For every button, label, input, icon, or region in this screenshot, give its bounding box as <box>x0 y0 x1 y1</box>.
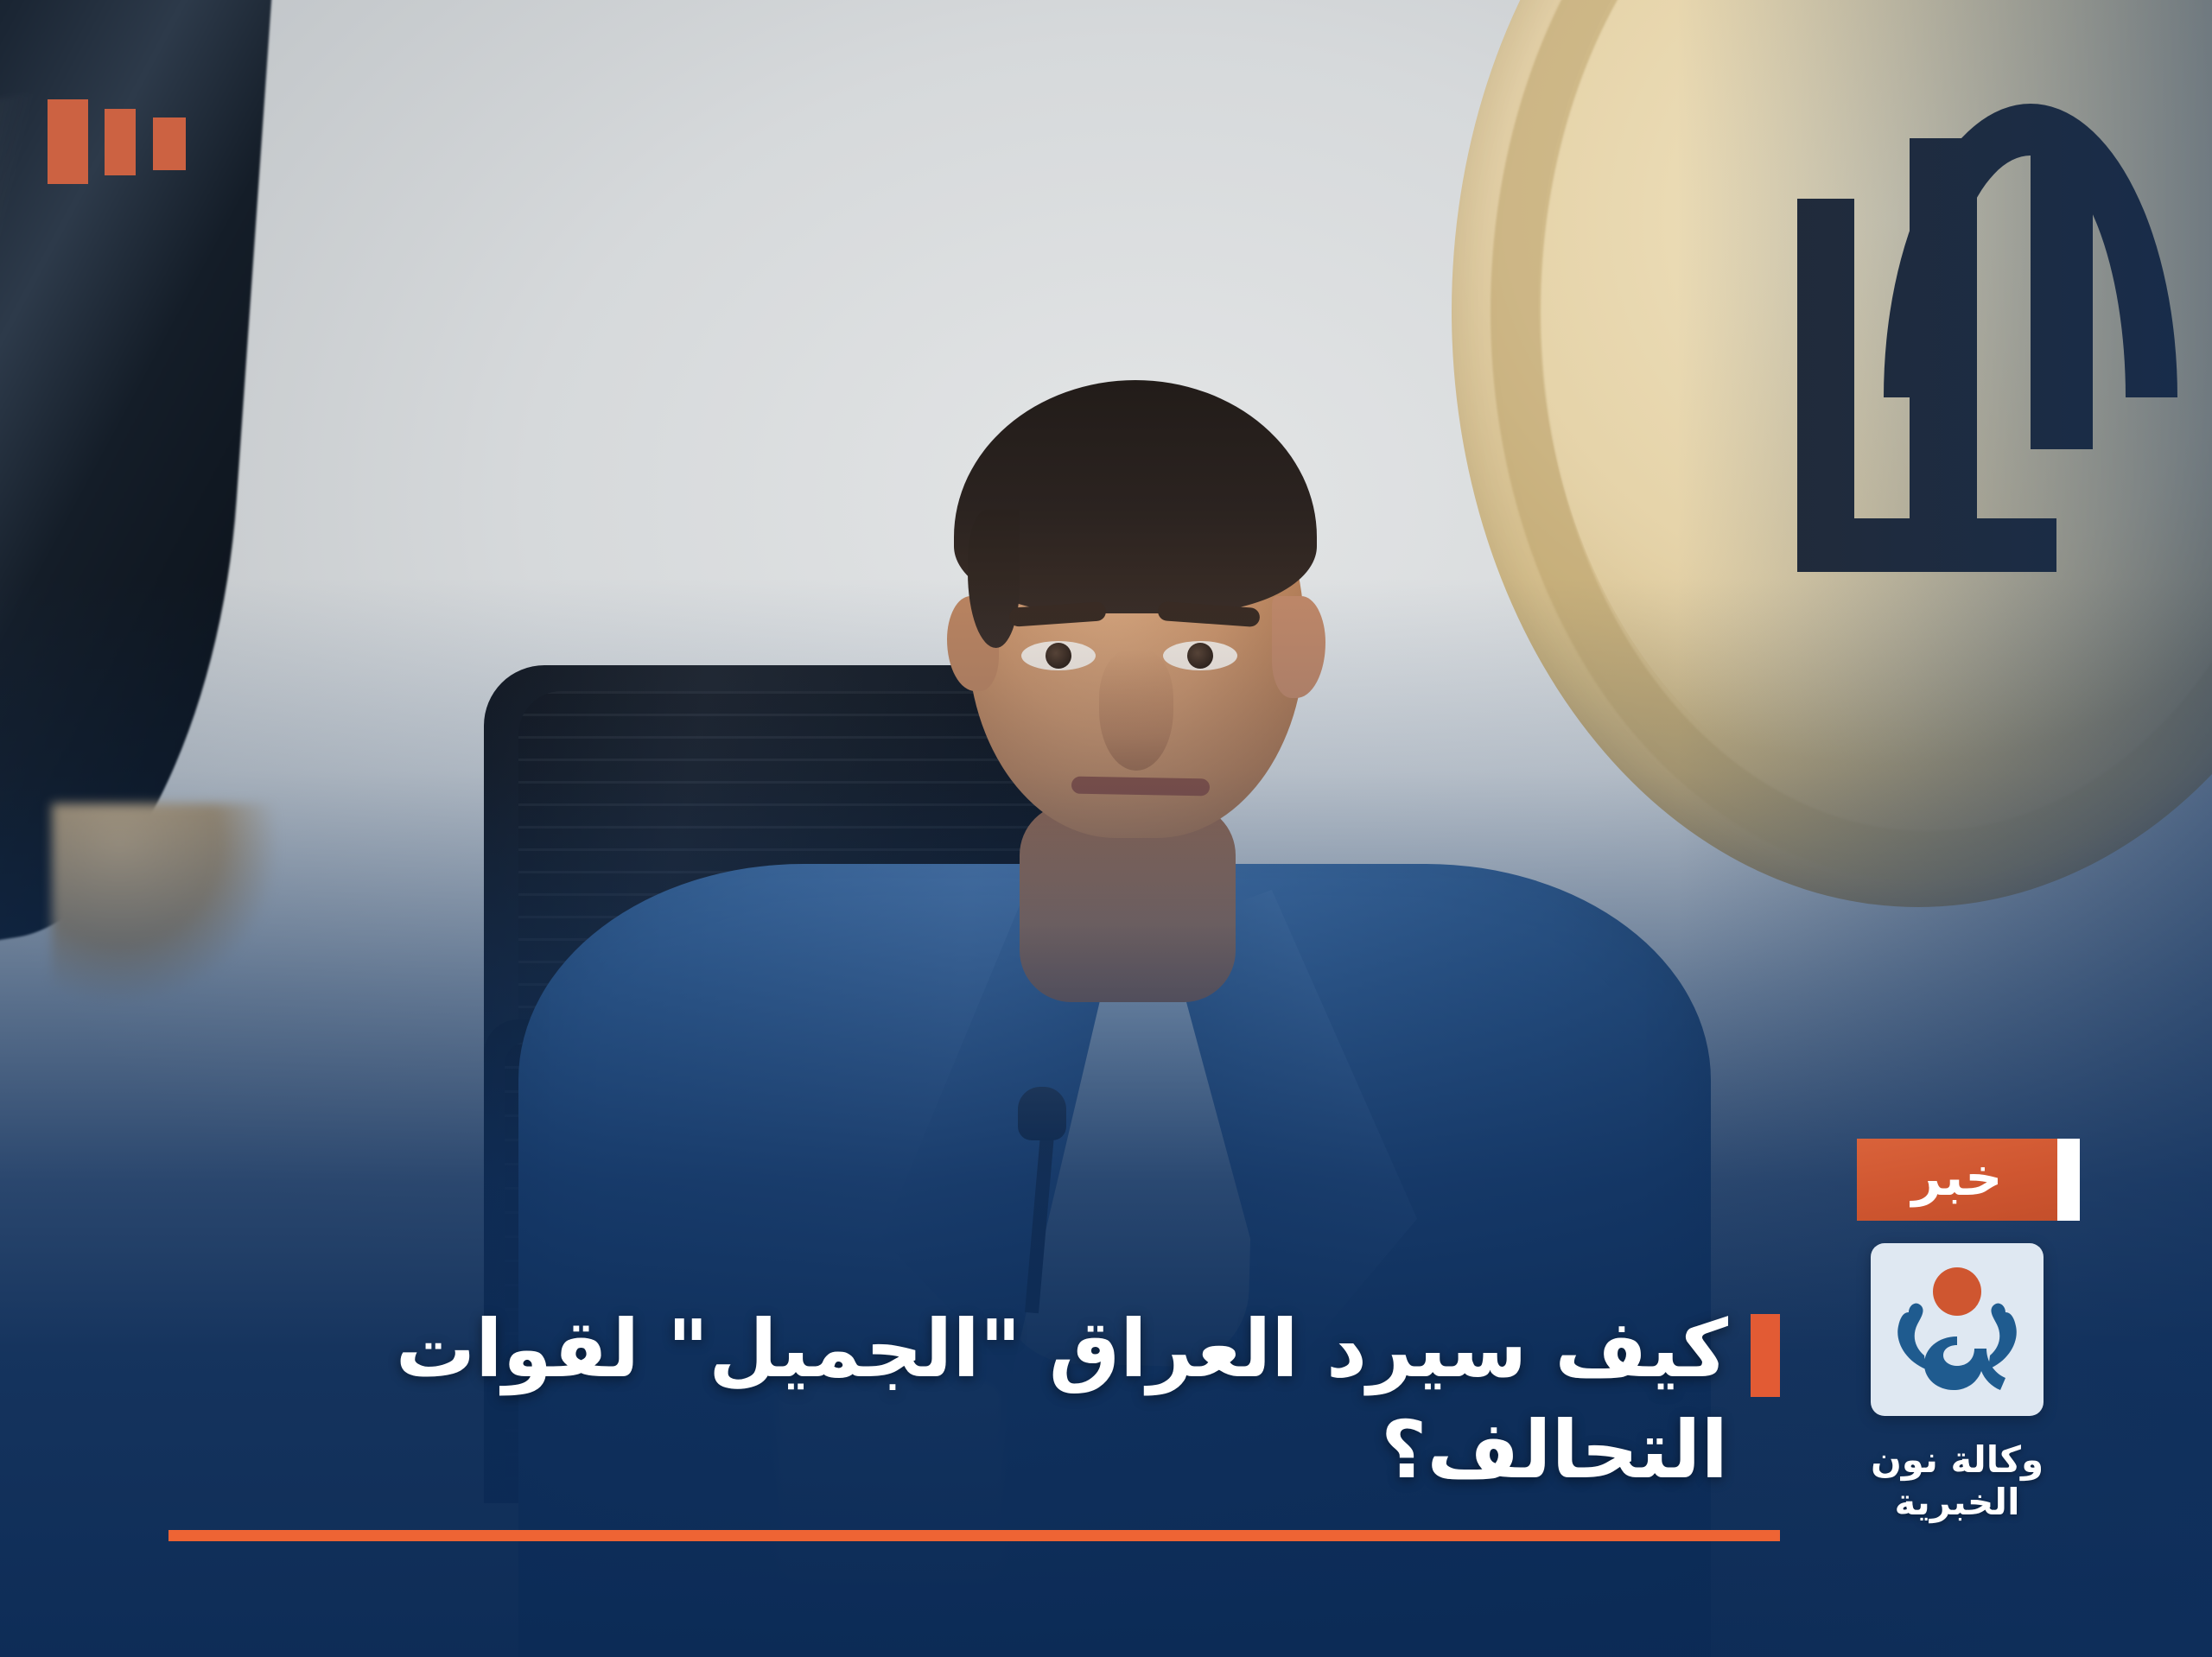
brand-bar-3 <box>153 117 186 170</box>
agency-logo-tile <box>1871 1243 2044 1416</box>
brand-bar-1 <box>48 99 88 184</box>
brand-bar-2 <box>105 109 136 175</box>
three-bars-mark-icon <box>0 0 259 225</box>
headline-block: كيف سيرد العراق "الجميل" لقواتالتحالف؟ <box>130 1298 1780 1502</box>
agency-name: وكالة نون الخبرية <box>1815 1438 2100 1523</box>
headline-underline <box>168 1530 1780 1541</box>
page-title: كيف سيرد العراق "الجميل" لقواتالتحالف؟ <box>130 1298 1780 1502</box>
news-badge: خبر <box>1857 1139 2057 1221</box>
news-badge-tab <box>2057 1139 2080 1221</box>
news-badge-label: خبر <box>1911 1152 2002 1209</box>
headline-line-2: التحالف؟ <box>1381 1404 1728 1496</box>
brand-block: خبر وكالة نون الخبرية <box>1815 1139 2100 1523</box>
news-card: كيف سيرد العراق "الجميل" لقواتالتحالف؟ خ… <box>0 0 2212 1657</box>
headline-accent-bar <box>1751 1314 1780 1397</box>
headline-line-1: كيف سيرد العراق "الجميل" لقوات <box>396 1303 1728 1395</box>
noon-agency-logo-icon <box>1871 1243 2044 1416</box>
